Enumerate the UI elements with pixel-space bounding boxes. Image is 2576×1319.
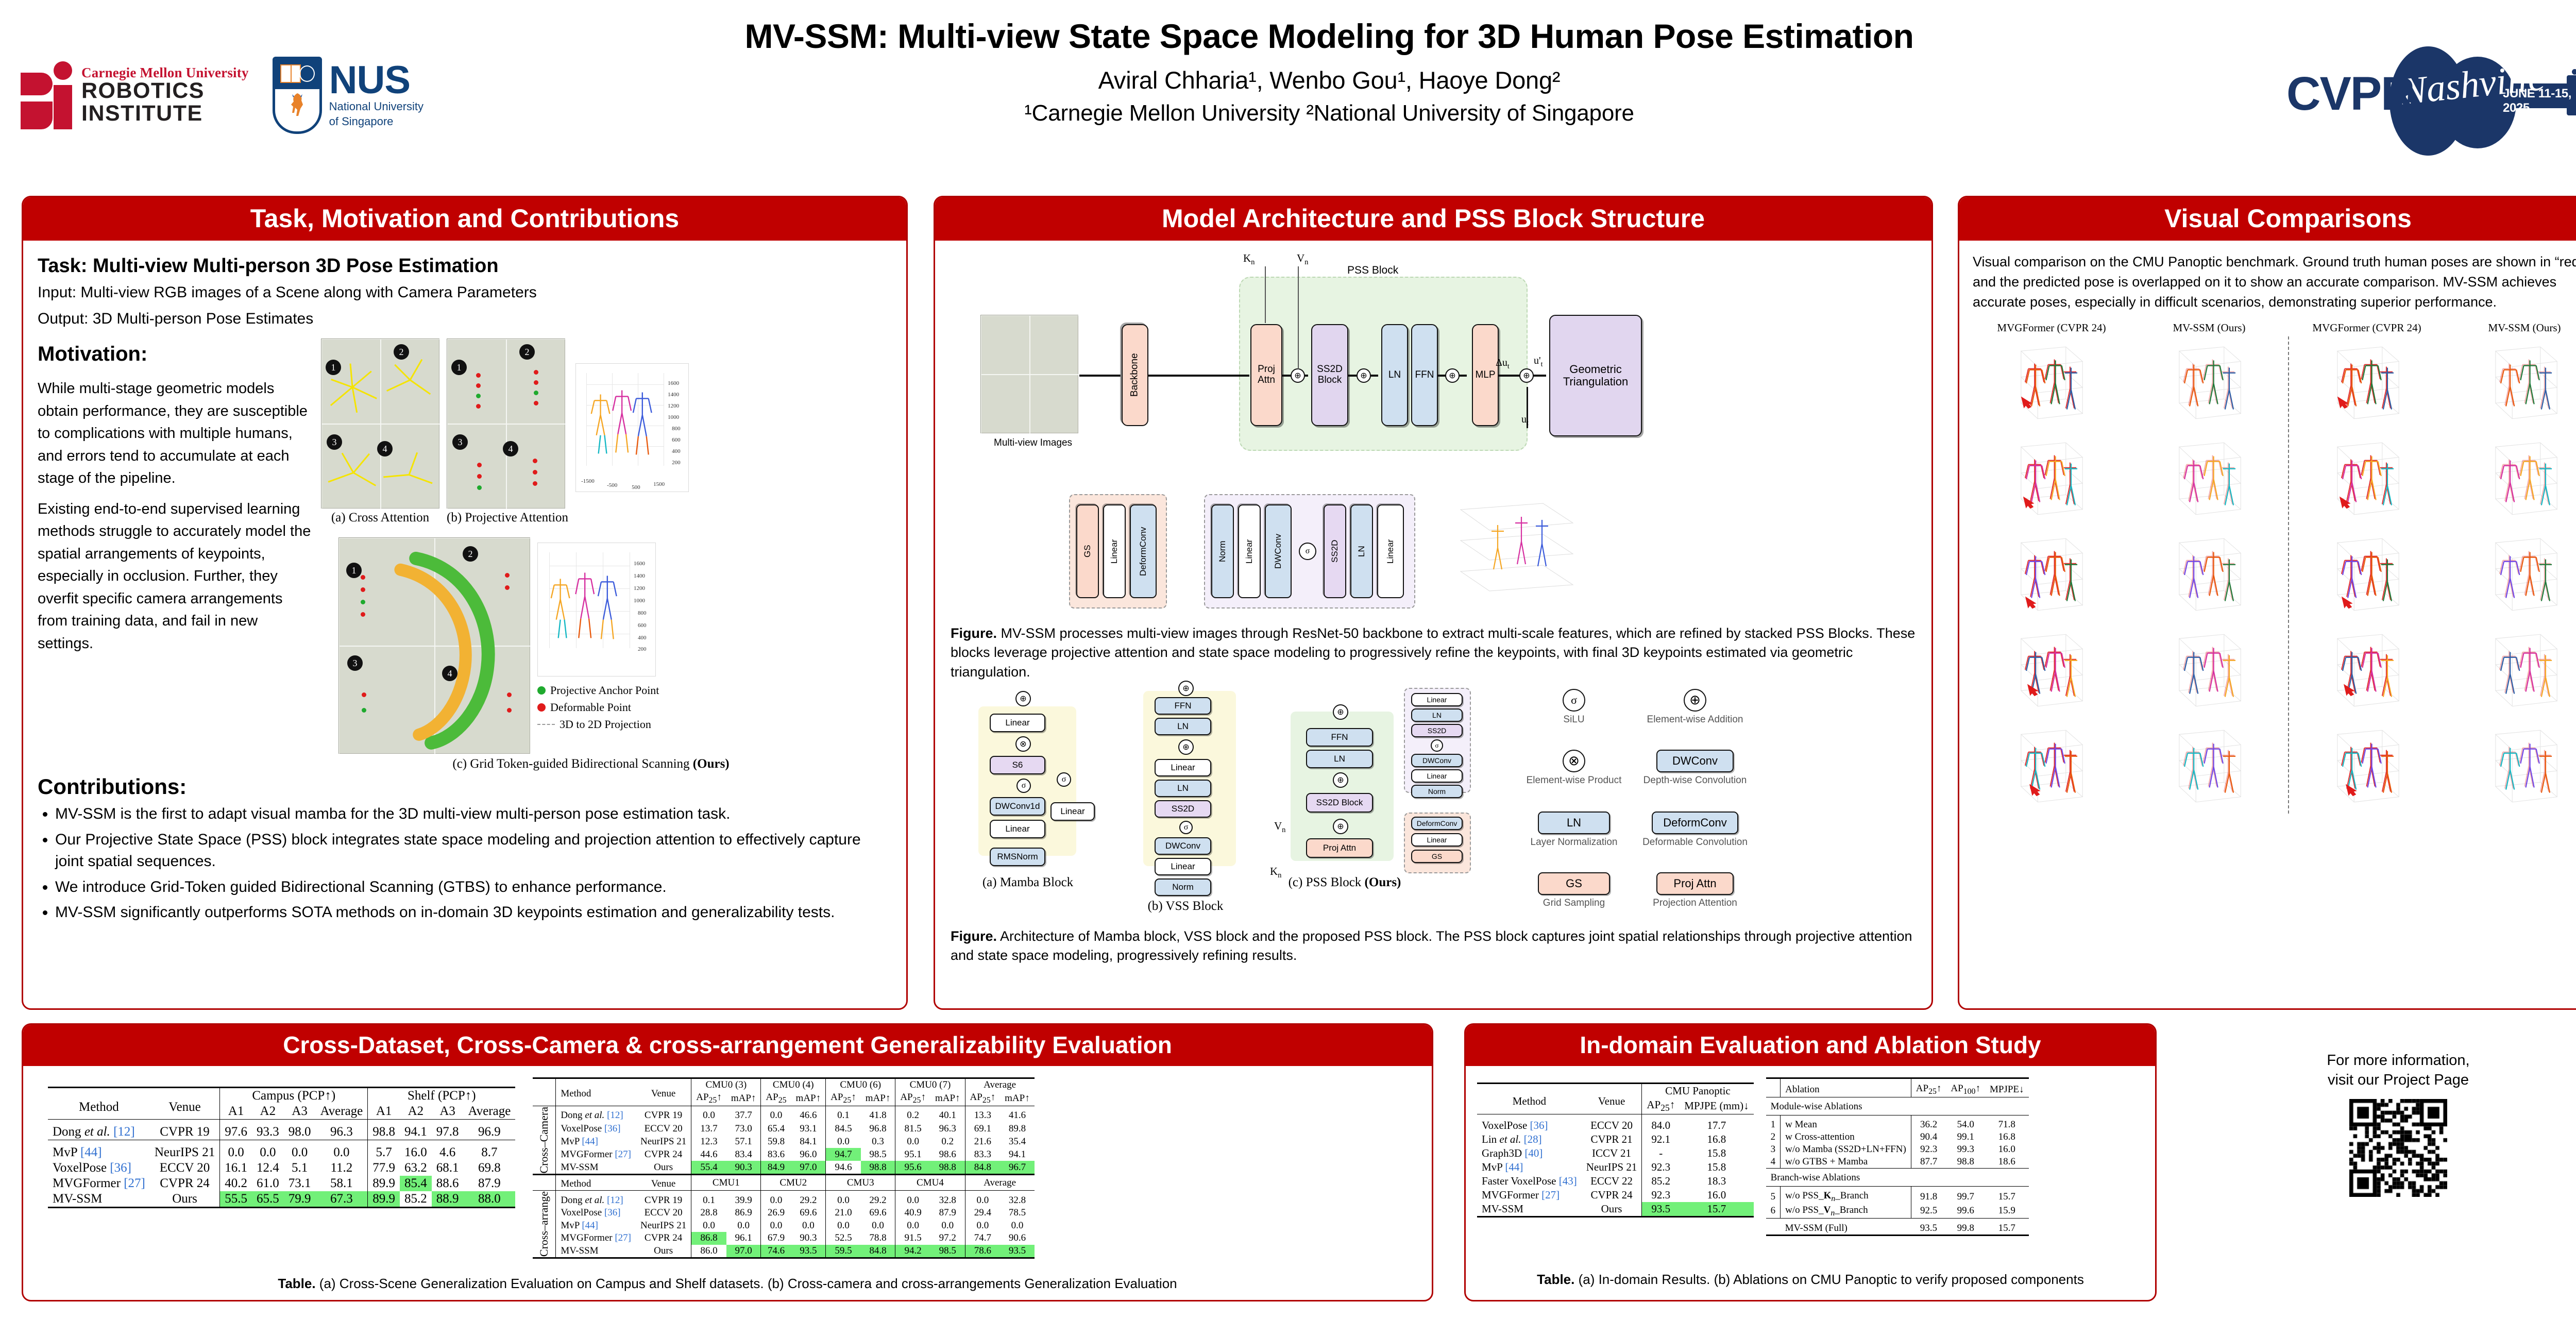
cell-value: 97.0 bbox=[791, 1161, 826, 1175]
table-row: VoxelPose [36]ECCV 20 13.773.0 65.493.1 … bbox=[533, 1122, 1034, 1135]
cell-value: 8.7 bbox=[464, 1140, 516, 1161]
table-row: MV-SSMOurs 86.097.0 74.693.5 59.584.8 94… bbox=[533, 1245, 1034, 1258]
visual-comparison-cell bbox=[1973, 624, 2129, 718]
cell-venue: ECCV 20 bbox=[1582, 1114, 1642, 1133]
table-indomain: Method Venue CMU Panoptic AP25↑ MPJPE (m… bbox=[1477, 1083, 1754, 1217]
projective-attention-cube: 1 2 3 4 bbox=[447, 339, 565, 509]
figure-projective-attention: 1 2 3 4 (b) P bbox=[447, 339, 568, 525]
affiliation-list: ¹Carnegie Mellon University ²National Un… bbox=[505, 100, 2154, 126]
silu-icon: σ bbox=[1057, 772, 1071, 787]
cmu-robotics-institute-logo: Carnegie Mellon University ROBOTICS INST… bbox=[21, 61, 249, 129]
cell-value: 65.4 bbox=[761, 1122, 791, 1135]
cell-value: 12.3 bbox=[691, 1135, 726, 1148]
cell-value: 54.0 bbox=[1946, 1115, 1985, 1131]
cell-value: 79.9 bbox=[284, 1191, 316, 1208]
visual-comparison-cell bbox=[2131, 432, 2287, 526]
col-header: AP25↑ bbox=[965, 1091, 1000, 1106]
cell-venue: CVPR 24 bbox=[1582, 1188, 1642, 1202]
cell-value: 5.1 bbox=[284, 1160, 316, 1176]
norm-block: Norm bbox=[1411, 785, 1463, 798]
cell-venue: Ours bbox=[636, 1245, 691, 1258]
block-structure-diagram: ⊕ Linear ⊗ S6 σ σ DWConv1d Linear Linear… bbox=[951, 684, 1916, 900]
proj-attn-block: Proj Attn bbox=[1656, 872, 1734, 895]
silu-icon: σ bbox=[1179, 821, 1193, 834]
cell-venue: CVPR 19 bbox=[636, 1191, 691, 1207]
cell-value: 90.6 bbox=[1000, 1232, 1035, 1245]
col-header: AP100↑ bbox=[1946, 1078, 1985, 1097]
cell-value: 18.6 bbox=[1985, 1156, 2029, 1169]
legend-label: 3D to 2D Projection bbox=[560, 718, 651, 731]
ln-block: LN bbox=[1155, 780, 1211, 797]
figure-cross-attention: 1 2 3 4 bbox=[321, 339, 439, 525]
geometric-triangulation-block: Geometric Triangulation bbox=[1549, 315, 1642, 436]
cell-value: 87.7 bbox=[1911, 1156, 1946, 1169]
cell-value: 0.0 bbox=[284, 1140, 316, 1161]
table-cross-camera: Method Venue CMU0 (3) CMU0 (4) CMU0 (6) … bbox=[533, 1077, 1034, 1259]
ss2d-block: SS2D bbox=[1411, 724, 1463, 737]
table-row: MVGFormer [27] CVPR 24 40.261.073.158.1 … bbox=[48, 1176, 515, 1191]
cell-value: 0.0 bbox=[965, 1191, 1000, 1207]
project-page-qr-code[interactable] bbox=[2349, 1099, 2447, 1197]
cell-value: 96.3 bbox=[315, 1120, 367, 1140]
visual-comparison-cell bbox=[1973, 336, 2129, 430]
cell-value: 67.3 bbox=[315, 1191, 367, 1208]
cell-value: 86.8 bbox=[691, 1232, 726, 1245]
cell-value: 0.2 bbox=[930, 1135, 965, 1148]
cell-value: 0.3 bbox=[861, 1135, 895, 1148]
table-row: MV-SSM (Full) 93.599.815.7 bbox=[1766, 1219, 2029, 1236]
table-row: Cross–arrange Dong et al. [12] CVPR 19 0… bbox=[533, 1191, 1034, 1207]
architecture-subblocks-diagram: GS Linear DeformConv Norm Linear DWConv … bbox=[951, 491, 1916, 620]
cell-value: 28.8 bbox=[691, 1207, 726, 1220]
cell-value: 39.9 bbox=[726, 1191, 761, 1207]
s6-block: S6 bbox=[990, 756, 1045, 774]
cell-value: 78.8 bbox=[861, 1232, 895, 1245]
cell-value: 96.1 bbox=[726, 1232, 761, 1245]
cell-ablation: w Cross-attention bbox=[1781, 1131, 1911, 1143]
nus-sub-line2: of Singapore bbox=[329, 115, 423, 128]
anchor-point-icon bbox=[537, 686, 546, 695]
group-header: CMU0 (6) bbox=[826, 1078, 895, 1092]
cell-value: 99.7 bbox=[1946, 1186, 1985, 1204]
cell-venue: Ours bbox=[150, 1191, 220, 1208]
table-row: Graph3D [40]ICCV 21 -15.8 bbox=[1477, 1146, 1754, 1160]
u-t-label: ut bbox=[1521, 414, 1529, 428]
col-header: MPJPE (mm)↓ bbox=[1680, 1098, 1753, 1114]
motivation-paragraph-2: Existing end-to-end supervised learning … bbox=[38, 498, 316, 655]
legend-caption: SiLU bbox=[1522, 714, 1625, 725]
skeleton-3d-plot-bottom: 1600 1400 1200 1000 800 600 400 200 bbox=[537, 543, 656, 677]
norm-block: Norm bbox=[1155, 878, 1211, 896]
cell-venue: CVPR 19 bbox=[636, 1106, 691, 1122]
elementwise-product-icon: ⊗ bbox=[1563, 750, 1585, 772]
cross-table-caption: Table. (a) Cross-Scene Generalization Ev… bbox=[23, 1276, 1432, 1292]
institution-logos: Carnegie Mellon University ROBOTICS INST… bbox=[21, 57, 423, 134]
cell-value: 55.5 bbox=[220, 1191, 252, 1208]
cell-venue: CVPR 19 bbox=[150, 1120, 220, 1140]
cell-value: 99.3 bbox=[1946, 1143, 1985, 1156]
group-header: Average bbox=[965, 1078, 1035, 1092]
table-row: Cross–Camera Dong et al. [12] CVPR 19 0.… bbox=[533, 1106, 1034, 1122]
table-row: MvP [44]NeurIPS 21 12.357.1 59.884.1 0.0… bbox=[533, 1135, 1034, 1148]
cell-value: 87.9 bbox=[464, 1176, 516, 1191]
cell-value: 37.7 bbox=[726, 1106, 761, 1122]
legend-caption: Projection Attention bbox=[1636, 898, 1754, 909]
column-header: MVGFormer (CVPR 24) bbox=[1973, 322, 2130, 334]
panel-arch-title: Model Architecture and PSS Block Structu… bbox=[935, 197, 1931, 241]
ss2d-block: SS2D bbox=[1324, 504, 1346, 598]
cvpr-2025-logo: Nashville JUNE 11-15, 2025 CVPR bbox=[2286, 38, 2576, 161]
ss2d-block: SS2D Block bbox=[1311, 324, 1348, 426]
section-label-cross-arrange: Cross–arrange bbox=[533, 1191, 556, 1258]
dwconv-block: DWConv bbox=[1155, 837, 1211, 855]
col-header: A1 bbox=[220, 1104, 252, 1120]
group-header: Shelf (PCP↑) bbox=[368, 1088, 516, 1104]
author-list: Aviral Chharia¹, Wenbo Gou¹, Haoye Dong² bbox=[505, 66, 2154, 94]
u-prime-label: u't bbox=[1534, 355, 1543, 369]
elementwise-add-icon: ⊕ bbox=[1357, 368, 1371, 383]
ffn-block: FFN bbox=[1306, 728, 1373, 747]
cell-value: 89.9 bbox=[368, 1191, 400, 1208]
cell-value: 0.0 bbox=[895, 1191, 930, 1207]
cell-value: 41.6 bbox=[1000, 1106, 1035, 1122]
cell-value: 41.8 bbox=[861, 1106, 895, 1122]
cell-value: 86.9 bbox=[726, 1207, 761, 1220]
col-header: AP25↑ bbox=[826, 1091, 861, 1106]
elementwise-add-icon: ⊕ bbox=[1178, 739, 1194, 755]
cell-value: 92.1 bbox=[1642, 1132, 1680, 1146]
col-header: mAP↑ bbox=[726, 1091, 761, 1106]
cell-value: 92.3 bbox=[1911, 1143, 1946, 1156]
pss-block-group-label: PSS Block bbox=[1347, 264, 1398, 277]
cell-value: 36.2 bbox=[1911, 1115, 1946, 1131]
col-header: AP25↑ bbox=[691, 1091, 726, 1106]
cell-ablation: w/o PSS_Kn_Branch bbox=[1781, 1186, 1911, 1204]
cell-venue: CVPR 24 bbox=[636, 1148, 691, 1161]
cell-value: 93.5 bbox=[1000, 1245, 1035, 1258]
elementwise-add-icon: ⊕ bbox=[1684, 689, 1706, 712]
cell-value: 97.8 bbox=[432, 1120, 464, 1140]
legend-deformconv: DeformConv Deformable Convolution bbox=[1636, 811, 1754, 848]
cell-method: MVGFormer [27] bbox=[1477, 1188, 1582, 1202]
linear-block: Linear bbox=[1377, 504, 1404, 598]
figure-c-caption: (c) Grid Token-guided Bidirectional Scan… bbox=[321, 757, 861, 771]
cell-value: 98.8 bbox=[1946, 1156, 1985, 1169]
figure-b-caption: (b) Projective Attention bbox=[447, 511, 568, 525]
table-row: MV-SSMOurs 55.490.3 84.997.0 94.698.8 95… bbox=[533, 1161, 1034, 1175]
cell-method: MVGFormer [27] bbox=[48, 1176, 150, 1191]
table-cross-camera-arrangement: Method Venue CMU0 (3) CMU0 (4) CMU0 (6) … bbox=[533, 1077, 1034, 1259]
column-header: MVGFormer (CVPR 24) bbox=[2288, 322, 2446, 334]
table-row: 5 w/o PSS_Kn_Branch 91.899.715.7 bbox=[1766, 1186, 2029, 1204]
group-header: Average bbox=[965, 1175, 1035, 1191]
cell-value: 0.1 bbox=[826, 1106, 861, 1122]
cell-value: 85.2 bbox=[1642, 1174, 1680, 1188]
cell-value: 0.0 bbox=[761, 1106, 791, 1122]
motivation-column: Motivation: While multi-stage geometric … bbox=[38, 339, 316, 771]
table-row: MVGFormer [27]CVPR 24 44.683.4 83.696.0 … bbox=[533, 1148, 1034, 1161]
cell-index: 2 bbox=[1766, 1131, 1781, 1143]
cell-value: 0.0 bbox=[761, 1191, 791, 1207]
panel-visual-title: Visual Comparisons bbox=[1959, 197, 2576, 241]
contributions-list: MV-SSM is the first to adapt visual mamb… bbox=[38, 803, 892, 924]
cell-ablation: w/o Mamba (SS2D+LN+FFN) bbox=[1781, 1143, 1911, 1156]
cell-value: 0.0 bbox=[691, 1106, 726, 1122]
cell-value: 94.7 bbox=[826, 1148, 861, 1161]
cell-value: 16.1 bbox=[220, 1160, 252, 1176]
col-header: Method bbox=[556, 1078, 636, 1106]
cell-value: 93.5 bbox=[791, 1245, 826, 1258]
nus-shield-icon bbox=[273, 57, 322, 134]
cell-value: - bbox=[1642, 1146, 1680, 1160]
more-info-line2: visit our Project Page bbox=[2179, 1071, 2576, 1090]
cell-value: 15.9 bbox=[1985, 1204, 2029, 1219]
col-header: Method bbox=[1477, 1084, 1582, 1114]
visual-comparison-cell bbox=[2131, 336, 2287, 430]
col-header: Venue bbox=[636, 1175, 691, 1191]
cell-value: 92.5 bbox=[1911, 1204, 1946, 1219]
cell-value: 86.0 bbox=[691, 1245, 726, 1258]
ffn-block: FFN bbox=[1411, 324, 1438, 426]
cell-value: 88.9 bbox=[432, 1191, 464, 1208]
cell-value: 96.7 bbox=[1000, 1161, 1035, 1175]
visual-comparison-cell bbox=[2289, 528, 2445, 622]
deformable-point-icon bbox=[537, 703, 546, 712]
cell-venue: CVPR 24 bbox=[636, 1232, 691, 1245]
cell-value: 13.7 bbox=[691, 1122, 726, 1135]
nus-sub-line1: National University bbox=[329, 100, 423, 113]
table-section-row: Module-wise Ablations bbox=[1766, 1097, 2029, 1115]
ln-block: LN bbox=[1411, 708, 1463, 722]
cell-value: 93.5 bbox=[1911, 1219, 1946, 1236]
cell-value: 0.0 bbox=[895, 1220, 930, 1232]
proj-attn-block: Proj Attn bbox=[1306, 838, 1373, 858]
linear-block: Linear bbox=[1411, 693, 1463, 706]
cell-value: 59.5 bbox=[826, 1245, 861, 1258]
cell-method: MvP [44] bbox=[556, 1135, 636, 1148]
col-header: mAP↑ bbox=[791, 1091, 826, 1106]
cell-value: 16.0 bbox=[400, 1140, 432, 1161]
architecture-figure-caption: Figure. MV-SSM processes multi-view imag… bbox=[951, 624, 1916, 682]
cell-venue: Ours bbox=[1582, 1202, 1642, 1217]
cell-value: 32.8 bbox=[930, 1191, 965, 1207]
cell-value: 18.3 bbox=[1680, 1174, 1753, 1188]
cell-value: 0.0 bbox=[252, 1140, 284, 1161]
linear-block: Linear bbox=[1411, 833, 1463, 847]
col-header: Method bbox=[48, 1088, 150, 1120]
visual-comparison-cell bbox=[2289, 432, 2445, 526]
cell-index: 6 bbox=[1766, 1204, 1781, 1219]
motivation-figures: 1 2 3 4 bbox=[321, 339, 892, 771]
motivation-paragraph-1: While multi-stage geometric models obtai… bbox=[38, 378, 316, 490]
cell-value: 0.0 bbox=[726, 1220, 761, 1232]
linear-block: Linear bbox=[1238, 504, 1261, 598]
cell-value: 93.5 bbox=[1642, 1202, 1680, 1217]
cell-value: 88.6 bbox=[432, 1176, 464, 1191]
cell-value: 16.0 bbox=[1680, 1188, 1753, 1202]
cell-value: 84.1 bbox=[791, 1135, 826, 1148]
legend-caption: Grid Sampling bbox=[1522, 898, 1625, 909]
cell-value: 15.8 bbox=[1680, 1160, 1753, 1174]
panel-indomain-title: In-domain Evaluation and Ablation Study bbox=[1466, 1025, 2155, 1066]
table-row: MvP [44]NeurIPS 21 0.00.0 0.00.0 0.00.0 … bbox=[533, 1220, 1034, 1232]
cell-value: 81.5 bbox=[895, 1122, 930, 1135]
cell-value: 5.7 bbox=[368, 1140, 400, 1161]
cell-value: 92.3 bbox=[1642, 1188, 1680, 1202]
cmu-university-label: Carnegie Mellon University bbox=[81, 65, 249, 80]
skeleton-figures-icon bbox=[576, 364, 688, 492]
cell-value: 65.5 bbox=[252, 1191, 284, 1208]
table-row: MV-SSM Ours 55.565.579.967.3 89.985.288.… bbox=[48, 1191, 515, 1208]
ln-block: LN bbox=[1538, 811, 1610, 834]
cmu-unit-line2: INSTITUTE bbox=[81, 103, 249, 125]
cell-value: 0.2 bbox=[895, 1106, 930, 1122]
legend-gs: GS Grid Sampling bbox=[1522, 872, 1625, 909]
group-header: Campus (PCP↑) bbox=[220, 1088, 368, 1104]
list-item: MV-SSM significantly outperforms SOTA me… bbox=[55, 902, 892, 924]
col-header: AP25↑ bbox=[1642, 1098, 1680, 1114]
cell-method: VoxelPose [36] bbox=[1477, 1114, 1582, 1133]
panel-cross-title: Cross-Dataset, Cross-Camera & cross-arra… bbox=[23, 1025, 1432, 1066]
visual-comparison-cell bbox=[2447, 336, 2576, 430]
backbone-block: Backbone bbox=[1122, 324, 1148, 426]
gs-block: GS bbox=[1411, 850, 1463, 863]
legend-item: 3D to 2D Projection bbox=[537, 718, 659, 731]
cvpr-dates-label: JUNE 11-15, 2025 bbox=[2503, 87, 2576, 115]
cell-value: 40.2 bbox=[220, 1176, 252, 1191]
cell-value: 91.5 bbox=[895, 1232, 930, 1245]
cell-value: 84.9 bbox=[761, 1161, 791, 1175]
ri-mark-icon bbox=[21, 61, 68, 129]
section-module-wise: Module-wise Ablations bbox=[1766, 1097, 2029, 1115]
silu-icon: σ bbox=[1563, 689, 1585, 712]
table-row: 2 w Cross-attention 90.499.116.8 bbox=[1766, 1131, 2029, 1143]
cell-ablation: MV-SSM (Full) bbox=[1781, 1219, 1911, 1236]
linear-block: Linear bbox=[1155, 858, 1211, 875]
cell-venue: CVPR 21 bbox=[1582, 1132, 1642, 1146]
norm-block: Norm bbox=[1211, 504, 1234, 598]
cell-value: 0.0 bbox=[761, 1220, 791, 1232]
cell-ablation: w/o GTBS + Mamba bbox=[1781, 1156, 1911, 1169]
elementwise-add-icon: ⊕ bbox=[1333, 704, 1348, 720]
table-row: VoxelPose [36] ECCV 20 84.017.7 bbox=[1477, 1114, 1754, 1133]
skeleton-3d-plot-top: 1600 1400 1200 1000 800 600 400 200 -150… bbox=[575, 363, 689, 492]
table-row: MV-SSMOurs 93.515.7 bbox=[1477, 1202, 1754, 1217]
group-header: CMU4 bbox=[895, 1175, 965, 1191]
table-row: Faster VoxelPose [43]ECCV 22 85.218.3 bbox=[1477, 1174, 1754, 1188]
cell-value: 17.7 bbox=[1680, 1114, 1753, 1133]
figure-a-caption: (a) Cross Attention bbox=[321, 511, 439, 525]
dwconv-block: DWConv bbox=[1265, 504, 1292, 598]
visual-comparison-cell bbox=[2447, 720, 2576, 814]
ln-block: LN bbox=[1155, 718, 1211, 735]
cell-value: 21.6 bbox=[965, 1135, 1000, 1148]
cell-value: 67.9 bbox=[761, 1232, 791, 1245]
cmu-unit-line1: ROBOTICS bbox=[81, 80, 249, 103]
table-row: VoxelPose [36] ECCV 20 16.112.45.111.2 7… bbox=[48, 1160, 515, 1176]
cell-method: MvP [44] bbox=[1477, 1160, 1582, 1174]
table-ablation: Ablation AP25↑ AP100↑ MPJPE↓ Module-wise… bbox=[1766, 1077, 2029, 1236]
table-row: Lin et al. [28]CVPR 21 92.116.8 bbox=[1477, 1132, 1754, 1146]
visual-comparison-cell bbox=[1973, 432, 2129, 526]
cell-value: 85.4 bbox=[400, 1176, 432, 1191]
table-row: MVGFormer [27]CVPR 24 92.316.0 bbox=[1477, 1188, 1754, 1202]
cell-value: 11.2 bbox=[315, 1160, 367, 1176]
legend-label: Projective Anchor Point bbox=[550, 684, 659, 697]
ss2d-block: SS2D bbox=[1155, 800, 1211, 818]
cell-value: 99.6 bbox=[1946, 1204, 1985, 1219]
motivation-heading: Motivation: bbox=[38, 339, 316, 369]
visual-comparison-cell bbox=[2289, 336, 2445, 430]
cell-method: Graph3D [40] bbox=[1477, 1146, 1582, 1160]
cell-value: 91.8 bbox=[1911, 1186, 1946, 1204]
legend-caption: Element-wise Addition bbox=[1636, 714, 1754, 725]
col-header: Method bbox=[556, 1175, 636, 1191]
kn-input-label: Kn bbox=[1243, 252, 1255, 267]
panel-cross-dataset-evaluation: Cross-Dataset, Cross-Camera & cross-arra… bbox=[22, 1023, 1433, 1301]
cell-method: MV-SSM bbox=[1477, 1202, 1582, 1217]
group-header: CMU0 (7) bbox=[895, 1078, 965, 1092]
cvpr-wordmark: CVPR bbox=[2286, 67, 2414, 121]
more-information-block: For more information, visit our Project … bbox=[2179, 1051, 2576, 1199]
table-row: 4 w/o GTBS + Mamba 87.798.818.6 bbox=[1766, 1156, 2029, 1169]
section-label-cross-camera: Cross–Camera bbox=[533, 1106, 556, 1175]
cell-value: 87.9 bbox=[930, 1207, 965, 1220]
visual-comparison-cell bbox=[2447, 624, 2576, 718]
cell-index: 3 bbox=[1766, 1143, 1781, 1156]
cell-value: 69.8 bbox=[464, 1160, 516, 1176]
cell-index: 5 bbox=[1766, 1186, 1781, 1204]
cell-value: 97.0 bbox=[726, 1245, 761, 1258]
cell-value: 98.6 bbox=[930, 1148, 965, 1161]
col-header: Average bbox=[464, 1104, 516, 1120]
cell-value: 0.0 bbox=[965, 1220, 1000, 1232]
rmsnorm-block: RMSNorm bbox=[990, 848, 1045, 866]
cell-value: 61.0 bbox=[252, 1176, 284, 1191]
silu-icon: σ bbox=[1431, 739, 1443, 752]
cell-value: 0.0 bbox=[930, 1220, 965, 1232]
cell-venue: NeurIPS 21 bbox=[636, 1220, 691, 1232]
cell-venue: ECCV 20 bbox=[150, 1160, 220, 1176]
cell-value: 78.5 bbox=[1000, 1207, 1035, 1220]
legend-item: Projective Anchor Point bbox=[537, 684, 659, 697]
table-row: 1 w Mean 36.254.071.8 bbox=[1766, 1115, 2029, 1131]
cell-method: VoxelPose [36] bbox=[556, 1122, 636, 1135]
cell-method: Lin et al. [28] bbox=[1477, 1132, 1582, 1146]
cell-value: 83.4 bbox=[726, 1148, 761, 1161]
linear-block: Linear bbox=[990, 820, 1045, 838]
table-row: MvP [44] NeurIPS 21 0.00.00.00.0 5.716.0… bbox=[48, 1140, 515, 1161]
cell-value: 0.0 bbox=[691, 1220, 726, 1232]
cell-value: 96.0 bbox=[791, 1148, 826, 1161]
cell-method: MV-SSM bbox=[48, 1191, 150, 1208]
cell-value: 90.4 bbox=[1911, 1131, 1946, 1143]
elementwise-add-icon: ⊕ bbox=[1178, 681, 1194, 696]
dwconv1d-block: DWConv1d bbox=[990, 797, 1045, 816]
cell-value: 69.6 bbox=[861, 1207, 895, 1220]
cell-value: 0.1 bbox=[691, 1191, 726, 1207]
col-header: mAP↑ bbox=[1000, 1091, 1035, 1106]
elementwise-add-icon: ⊕ bbox=[1333, 819, 1348, 834]
multi-view-images-label: Multi-view Images bbox=[994, 437, 1072, 449]
col-header: Venue bbox=[1582, 1084, 1642, 1114]
ln-block: LN bbox=[1306, 750, 1373, 768]
cell-value: 29.2 bbox=[791, 1191, 826, 1207]
legend-item: Deformable Point bbox=[537, 701, 659, 714]
legend-caption: Layer Normalization bbox=[1522, 837, 1625, 848]
group-header: CMU Panoptic bbox=[1642, 1084, 1754, 1098]
col-header: Venue bbox=[636, 1078, 691, 1106]
